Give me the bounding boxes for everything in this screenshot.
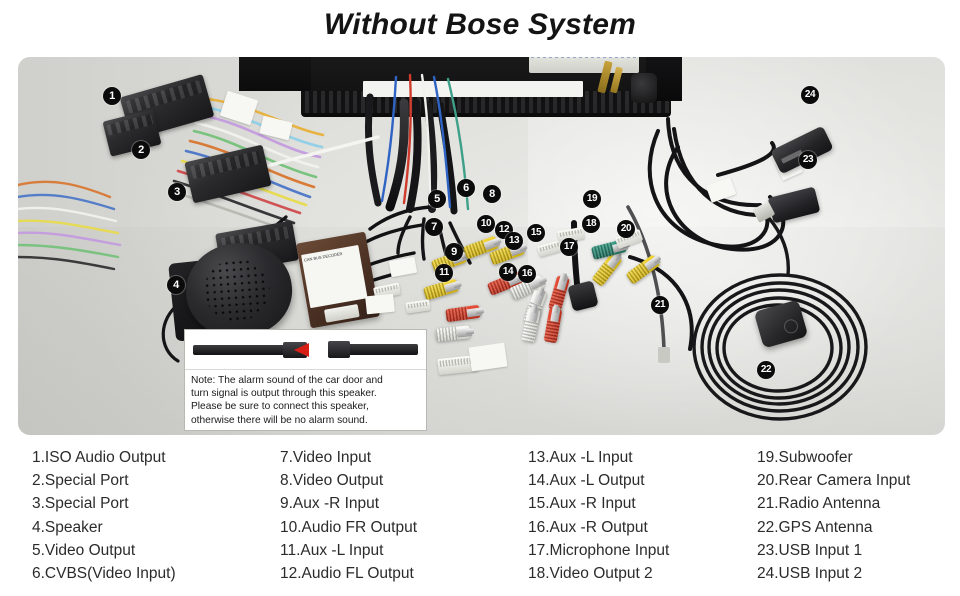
wire-label-tag-d	[365, 294, 395, 315]
legend-item: 14.Aux -L Output	[528, 469, 669, 492]
callout-8: 8	[483, 185, 501, 203]
callout-21: 21	[651, 296, 669, 314]
legend-item: 7.Video Input	[280, 446, 417, 469]
legend-item: 17.Microphone Input	[528, 539, 669, 562]
note-plug-left	[193, 345, 289, 355]
legend-item: 24.USB Input 2	[757, 562, 910, 585]
callout-3: 3	[168, 183, 186, 201]
note-line-3: Please be sure to connect this speaker,	[191, 400, 420, 413]
legend-item: 2.Special Port	[32, 469, 176, 492]
callout-14: 14	[499, 263, 517, 281]
legend-column-3: 13.Aux -L Input 14.Aux -L Output 15.Aux …	[528, 446, 669, 585]
legend-item: 16.Aux -R Output	[528, 516, 669, 539]
note-box: Note: The alarm sound of the car door an…	[184, 329, 427, 431]
legend: 1.ISO Audio Output 2.Special Port 3.Spec…	[0, 446, 960, 596]
legend-item: 6.CVBS(Video Input)	[32, 562, 176, 585]
note-connector-image	[185, 330, 426, 370]
legend-item: 20.Rear Camera Input	[757, 469, 910, 492]
legend-item: 21.Radio Antenna	[757, 492, 910, 515]
callout-19: 19	[583, 190, 601, 208]
callout-18: 18	[582, 215, 600, 233]
legend-item: 22.GPS Antenna	[757, 516, 910, 539]
note-line-1: Note: The alarm sound of the car door an…	[191, 374, 420, 387]
callout-24: 24	[801, 86, 819, 104]
legend-item: 12.Audio FL Output	[280, 562, 417, 585]
callout-17: 17	[560, 238, 578, 256]
wiring-diagram-page: Without Bose System	[0, 0, 960, 596]
legend-column-1: 1.ISO Audio Output 2.Special Port 3.Spec…	[32, 446, 176, 585]
callout-11: 11	[435, 264, 453, 282]
legend-item: 15.Aux -R Input	[528, 492, 669, 515]
callout-20: 20	[617, 220, 635, 238]
callout-23: 23	[799, 151, 817, 169]
note-arrow-icon	[294, 343, 309, 357]
callout-6: 6	[457, 179, 475, 197]
legend-column-2: 7.Video Input 8.Video Output 9.Aux -R In…	[280, 446, 417, 585]
legend-item: 18.Video Output 2	[528, 562, 669, 585]
legend-item: 19.Subwoofer	[757, 446, 910, 469]
legend-item: 4.Speaker	[32, 516, 176, 539]
callout-7: 7	[425, 218, 443, 236]
canbus-module-label: CAN BUS DECODER	[301, 245, 367, 308]
callout-9: 9	[445, 243, 463, 261]
canbus-module-plug	[324, 304, 360, 323]
callout-2: 2	[132, 141, 150, 159]
note-text: Note: The alarm sound of the car door an…	[185, 370, 426, 430]
legend-column-4: 19.Subwoofer 20.Rear Camera Input 21.Rad…	[757, 446, 910, 585]
legend-item: 11.Aux -L Input	[280, 539, 417, 562]
callout-10: 10	[477, 215, 495, 233]
callout-13: 13	[505, 232, 523, 250]
legend-item: 13.Aux -L Input	[528, 446, 669, 469]
callout-1: 1	[103, 87, 121, 105]
note-plug-right	[332, 344, 418, 355]
legend-item: 1.ISO Audio Output	[32, 446, 176, 469]
legend-item: 10.Audio FR Output	[280, 516, 417, 539]
harness-photo: CAN BUS DECODER	[18, 57, 945, 435]
legend-item: 23.USB Input 1	[757, 539, 910, 562]
callout-16: 16	[518, 265, 536, 283]
wire-label-tag-e	[469, 343, 508, 372]
legend-item: 3.Special Port	[32, 492, 176, 515]
speaker-grille	[202, 257, 272, 323]
callout-15: 15	[527, 224, 545, 242]
note-line-2: turn signal is output through this speak…	[191, 387, 420, 400]
callout-4: 4	[167, 276, 185, 294]
callout-5: 5	[428, 190, 446, 208]
legend-item: 9.Aux -R Input	[280, 492, 417, 515]
legend-item: 8.Video Output	[280, 469, 417, 492]
note-line-4: otherwise there will be no alarm sound.	[191, 414, 420, 427]
callout-22: 22	[757, 361, 775, 379]
legend-item: 5.Video Output	[32, 539, 176, 562]
page-title: Without Bose System	[0, 8, 960, 42]
